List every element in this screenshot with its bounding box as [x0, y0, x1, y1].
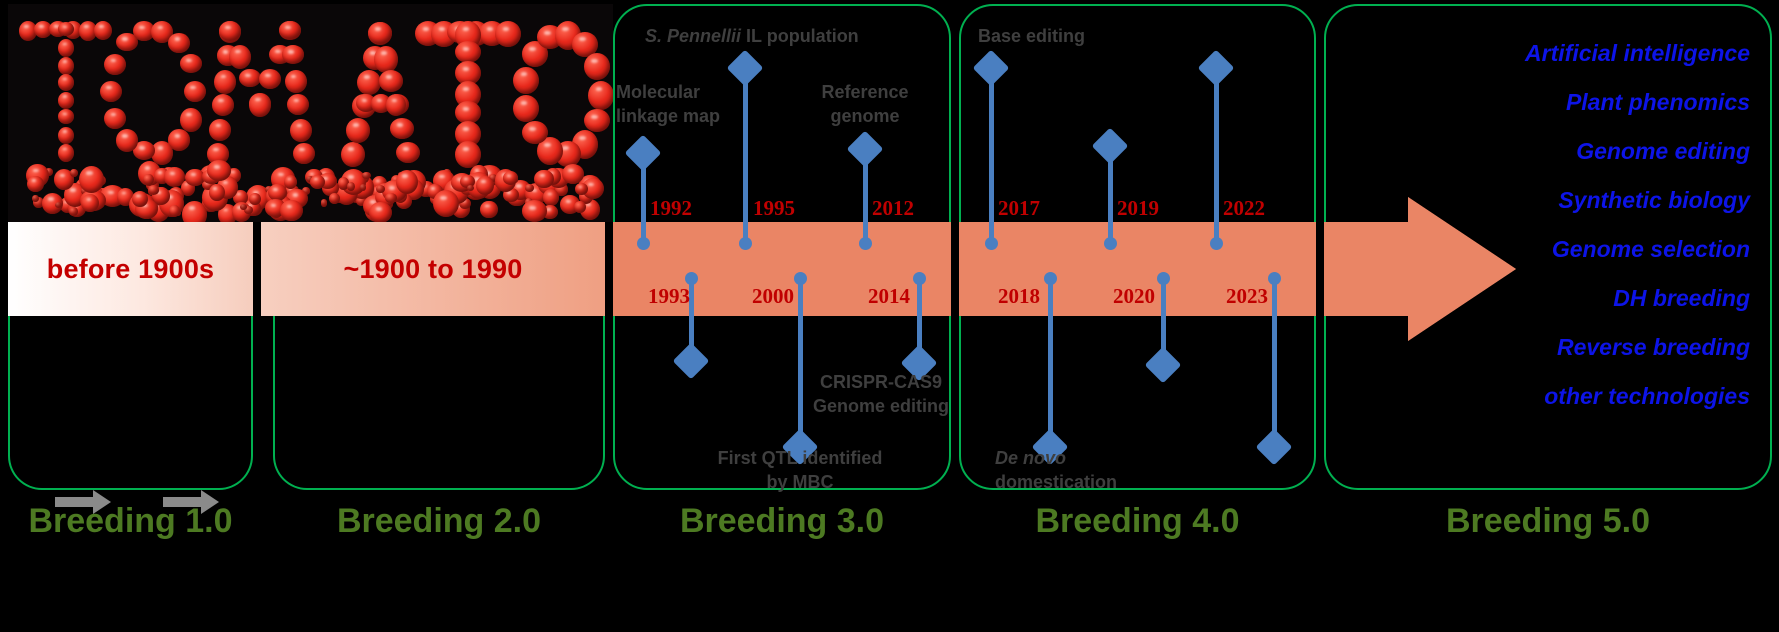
tomato-highlight: [158, 146, 164, 149]
tomato-shape: [27, 176, 44, 192]
tomato-shape: [207, 160, 232, 181]
tomato-highlight: [540, 174, 545, 177]
tomato-shape: [164, 167, 186, 187]
tomato-highlight: [175, 134, 181, 137]
tomato-shape: [574, 201, 586, 213]
tomato-shape: [58, 74, 74, 91]
milestone-stem: [743, 68, 748, 243]
tomato-shape: [390, 118, 414, 139]
milestone-dot-icon: [859, 237, 872, 250]
tomato-shape: [329, 193, 340, 204]
era-label-breeding-3: Breeding 3.0: [613, 502, 951, 541]
era-box-breeding-2: [273, 278, 605, 490]
milestone-stem: [1048, 278, 1053, 442]
tomato-highlight: [348, 147, 354, 151]
tomato-highlight: [376, 180, 380, 182]
milestone-stem: [1214, 68, 1219, 243]
tomato-highlight: [63, 113, 67, 115]
tomato-shape: [284, 175, 297, 189]
tomato-shape: [70, 169, 78, 177]
tomato-highlight: [377, 99, 382, 102]
event-s-pennellii-rest: IL population: [741, 26, 859, 46]
tomato-highlight: [63, 60, 67, 62]
era-label-breeding-2: Breeding 2.0: [273, 502, 605, 541]
era-label-breeding-1: Breeding 1.0: [8, 502, 253, 541]
tomato-shape: [543, 189, 559, 206]
tomato-highlight: [223, 50, 229, 53]
tomato-photo: [8, 4, 613, 222]
tomato-highlight: [591, 115, 598, 119]
year-1992: 1992: [650, 196, 692, 221]
tomato-highlight: [507, 191, 511, 193]
tomato-shape: [293, 143, 315, 164]
tomato-highlight: [463, 107, 470, 111]
tomato-shape: [280, 200, 303, 221]
tomato-highlight: [392, 99, 397, 102]
future-tech-item: other technologies: [1336, 385, 1772, 408]
tomato-highlight: [596, 87, 603, 91]
milestone-stem: [1108, 146, 1113, 243]
event-s-pennellii-species: S. Pennellii: [645, 26, 741, 46]
tomato-highlight: [297, 124, 303, 127]
tomato-highlight: [439, 27, 446, 31]
tomato-shape: [379, 70, 403, 92]
tomato-highlight: [170, 172, 175, 175]
tomato-highlight: [293, 193, 298, 196]
tomato-highlight: [158, 26, 164, 29]
tomato-highlight: [288, 50, 294, 53]
tomato-highlight: [566, 200, 571, 203]
tomato-shape: [495, 21, 521, 47]
tomato-highlight: [24, 25, 29, 28]
tomato-highlight: [39, 25, 44, 28]
milestone-dot-icon: [637, 237, 650, 250]
future-tech-item: Artificial intelligence: [1336, 42, 1772, 65]
tomato-shape: [94, 21, 112, 40]
milestone-stem: [1272, 278, 1277, 442]
tomato-highlight: [529, 127, 536, 131]
tomato-highlight: [63, 130, 67, 132]
year-2018: 2018: [998, 284, 1040, 309]
tomato-highlight: [463, 47, 470, 51]
tomato-highlight: [60, 174, 65, 177]
milestone-dot-icon: [985, 237, 998, 250]
tomato-shape: [290, 119, 312, 142]
tomato-highlight: [48, 197, 53, 200]
tomato-shape: [219, 21, 241, 41]
tomato-shape: [357, 70, 381, 95]
tomato-highlight: [463, 147, 470, 151]
year-2000: 2000: [752, 284, 794, 309]
tomato-highlight: [403, 147, 409, 151]
tomato-highlight: [463, 27, 470, 31]
tomato-highlight: [463, 127, 470, 131]
tomato-shape: [58, 22, 74, 36]
tomato-shape: [58, 109, 74, 124]
tomato-shape: [58, 92, 74, 109]
tomato-shape: [116, 129, 138, 151]
tomato-highlight: [139, 26, 145, 29]
tomato-highlight: [122, 134, 128, 137]
tomato-highlight: [122, 37, 128, 40]
tomato-highlight: [463, 87, 470, 91]
tomato-shape: [180, 54, 202, 72]
tomato-shape: [287, 94, 309, 115]
tomato-shape: [214, 70, 236, 94]
tomato-shape: [58, 39, 74, 57]
tomato-highlight: [33, 169, 39, 172]
tomato-highlight: [99, 25, 104, 28]
tomato-highlight: [579, 136, 586, 140]
tomato-highlight: [139, 146, 145, 149]
tomato-shape: [259, 69, 281, 89]
tomato-shape: [184, 81, 206, 102]
event-s-pennellii: S. Pennellii IL population: [645, 24, 875, 48]
tomato-highlight: [223, 181, 228, 184]
tomato-shape: [455, 41, 481, 63]
tomato-shape: [374, 46, 398, 73]
tomato-shape: [229, 45, 251, 69]
tomato-shape: [360, 184, 367, 191]
tomato-shape: [182, 201, 207, 222]
year-1993: 1993: [648, 284, 690, 309]
tomato-highlight: [221, 75, 227, 78]
tomato-shape: [385, 193, 397, 203]
tomato-shape: [455, 141, 481, 168]
future-tech-item: Reverse breeding: [1336, 336, 1772, 359]
event-molecular-linkage-map: Molecular linkage map: [616, 80, 736, 129]
tomato-shape: [169, 205, 180, 217]
tomato-shape: [212, 94, 234, 116]
tomato-highlight: [376, 207, 382, 210]
tomato-highlight: [70, 188, 75, 191]
event-reference-genome: Reference genome: [800, 80, 930, 129]
tomato-highlight: [191, 173, 196, 176]
era-label-breeding-5: Breeding 5.0: [1324, 502, 1772, 541]
tomato-highlight: [63, 26, 67, 28]
tomato-highlight: [529, 47, 536, 51]
tomato-shape: [100, 81, 122, 102]
tomato-highlight: [213, 187, 217, 189]
tomato-highlight: [463, 67, 470, 71]
tomato-shape: [480, 201, 497, 219]
future-technologies-list: Artificial intelligence Plant phenomics …: [1336, 42, 1772, 434]
tomato-shape: [69, 207, 78, 215]
tomato-highlight: [186, 113, 192, 116]
event-first-qtl: First QTL identified by MBC: [700, 446, 900, 495]
tomato-highlight: [63, 148, 67, 150]
tomato-shape: [104, 54, 126, 75]
tomato-shape: [522, 121, 548, 144]
tomato-highlight: [214, 165, 220, 169]
future-tech-item: Genome selection: [1336, 238, 1772, 261]
tomato-shape: [32, 195, 39, 202]
tomato-shape: [346, 118, 370, 143]
tomato-shape: [396, 142, 420, 163]
tomato-highlight: [588, 183, 594, 186]
milestone-stem: [863, 149, 868, 243]
tomato-shape: [522, 200, 547, 222]
tomato-highlight: [381, 51, 387, 55]
event-crispr-cas9: CRISPR-CAS9 Genome editing: [812, 370, 950, 419]
tomato-highlight: [503, 27, 510, 31]
tomato-shape: [143, 174, 154, 186]
tomato-shape: [386, 94, 406, 116]
future-tech-item: DH breeding: [1336, 287, 1772, 310]
tomato-shape: [476, 176, 494, 195]
year-2023: 2023: [1226, 284, 1268, 309]
tomato-highlight: [136, 195, 140, 198]
tomato-shape: [148, 185, 159, 194]
tomato-shape: [321, 199, 328, 206]
tomato-highlight: [216, 124, 222, 127]
tomato-highlight: [547, 208, 551, 210]
tomato-shape: [396, 170, 418, 194]
tomato-shape: [310, 175, 325, 189]
tomato-highlight: [544, 143, 551, 147]
tomato-shape: [433, 190, 459, 217]
tomato-shape: [58, 127, 74, 144]
tomato-shape: [209, 184, 225, 202]
tomato-shape: [369, 202, 392, 222]
milestone-stem: [641, 153, 646, 243]
milestone-dot-icon: [739, 237, 752, 250]
year-2012: 2012: [872, 196, 914, 221]
tomato-highlight: [579, 186, 582, 188]
tomato-highlight: [231, 171, 235, 173]
tomato-highlight: [87, 198, 91, 201]
tomato-shape: [513, 67, 539, 94]
tomato-highlight: [271, 204, 276, 207]
tomato-highlight: [362, 99, 367, 102]
tomato-shape: [588, 81, 613, 110]
tomato-highlight: [529, 206, 535, 210]
future-tech-item: Plant phenomics: [1336, 91, 1772, 114]
tomato-highlight: [175, 37, 181, 40]
tomato-shape: [239, 69, 261, 87]
tomato-highlight: [63, 78, 67, 80]
milestone-stem: [798, 278, 803, 442]
tomato-highlight: [145, 166, 151, 170]
year-1995: 1995: [753, 196, 795, 221]
tomato-highlight: [158, 171, 162, 173]
tomato-highlight: [348, 175, 354, 179]
event-de-novo: De novo: [995, 446, 1145, 470]
tomato-shape: [341, 142, 365, 167]
tomato-highlight: [86, 171, 92, 175]
era-box-breeding-4: [959, 4, 1316, 490]
tomato-highlight: [84, 25, 89, 28]
tomato-shape: [209, 119, 231, 142]
era-label-breeding-4: Breeding 4.0: [959, 502, 1316, 541]
tomato-highlight: [487, 27, 494, 31]
tomato-highlight: [402, 174, 408, 177]
milestone-dot-icon: [1104, 237, 1117, 250]
tomato-shape: [180, 108, 202, 133]
tomato-shape: [168, 33, 190, 54]
tomato-highlight: [562, 27, 569, 31]
tomato-highlight: [63, 95, 67, 97]
tomato-shape: [534, 170, 553, 189]
tomato-highlight: [591, 59, 598, 63]
tomato-highlight: [481, 180, 486, 183]
tomato-highlight: [423, 27, 430, 31]
event-domestication: domestication: [995, 470, 1155, 494]
tomato-shape: [282, 45, 304, 63]
tomato-shape: [58, 144, 74, 162]
tomato-shape: [55, 202, 62, 208]
tomato-shape: [584, 53, 610, 80]
milestone-stem: [989, 68, 994, 243]
tomato-highlight: [516, 184, 521, 187]
milestone-dot-icon: [1210, 237, 1223, 250]
tomato-shape: [285, 70, 307, 94]
tomato-shape: [584, 109, 610, 132]
infographic-canvas: before 1900s ~1900 to 1990 before 1900s …: [0, 0, 1779, 632]
year-2019: 2019: [1117, 196, 1159, 221]
future-tech-item: Genome editing: [1336, 140, 1772, 163]
tomato-highlight: [288, 178, 291, 180]
year-2022: 2022: [1223, 196, 1265, 221]
tomato-highlight: [440, 196, 446, 200]
tomato-shape: [249, 93, 271, 117]
year-2014: 2014: [868, 284, 910, 309]
tomato-shape: [362, 172, 371, 179]
event-base-editing: Base editing: [978, 24, 1118, 48]
tomato-highlight: [544, 31, 551, 35]
tomato-highlight: [485, 205, 489, 208]
year-2017: 2017: [998, 196, 1040, 221]
era-box-breeding-1: [8, 278, 253, 490]
tomato-highlight: [375, 27, 381, 31]
tomato-shape: [104, 108, 126, 129]
year-2020: 2020: [1113, 284, 1155, 309]
tomato-shape: [513, 95, 539, 122]
future-tech-item: Synthetic biology: [1336, 189, 1772, 212]
